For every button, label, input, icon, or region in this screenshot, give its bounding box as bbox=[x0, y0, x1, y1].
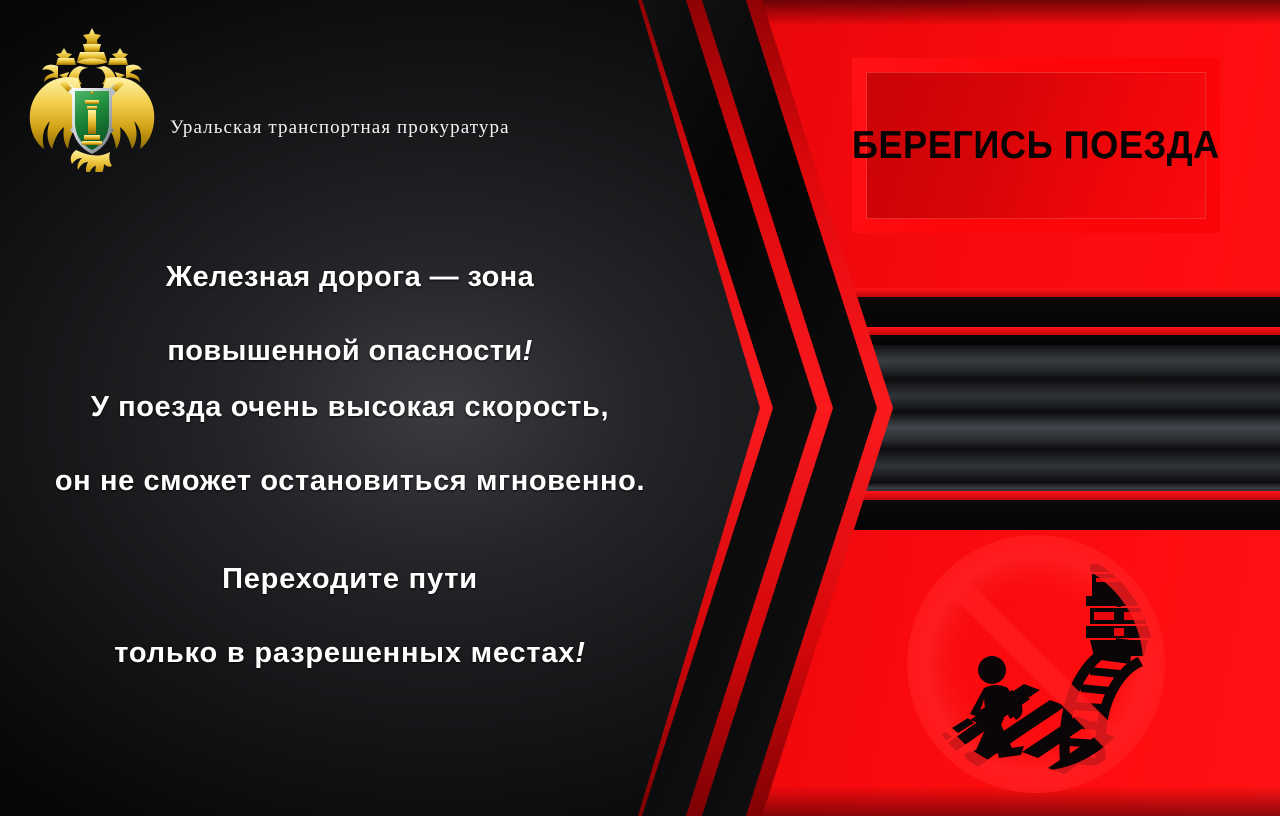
prosecutor-eagle-emblem-icon bbox=[28, 22, 156, 172]
message-line: только в разрешенных местах! bbox=[0, 635, 700, 672]
message-line: Переходите пути bbox=[0, 561, 700, 598]
no-crossing-tracks-icon bbox=[900, 528, 1172, 800]
message-cross-legally: Переходите пути только в разрешенных мес… bbox=[0, 524, 700, 710]
safety-poster: Уральская транспортная прокуратура БЕРЕГ… bbox=[0, 0, 1280, 816]
organization-name: Уральская транспортная прокуратура bbox=[170, 117, 510, 139]
message-train-speed: У поезда очень высокая скорость, он не с… bbox=[0, 352, 700, 538]
sign-text: БЕРЕГИСЬ ПОЕЗДА bbox=[852, 126, 1220, 165]
brand-header: Уральская транспортная прокуратура bbox=[28, 22, 510, 172]
horizontal-stripe-band bbox=[700, 288, 1280, 530]
message-line: он не сможет остановиться мгновенно. bbox=[0, 463, 700, 500]
message-line-text: только в разрешенных местах bbox=[114, 637, 575, 669]
message-line: Железная дорога — зона bbox=[0, 259, 700, 296]
beware-of-train-sign: БЕРЕГИСЬ ПОЕЗДА bbox=[852, 58, 1220, 233]
exclamation-mark: ! bbox=[575, 637, 585, 669]
sign-inner-panel: БЕРЕГИСЬ ПОЕЗДА bbox=[866, 72, 1206, 219]
message-line: У поезда очень высокая скорость, bbox=[0, 389, 700, 426]
